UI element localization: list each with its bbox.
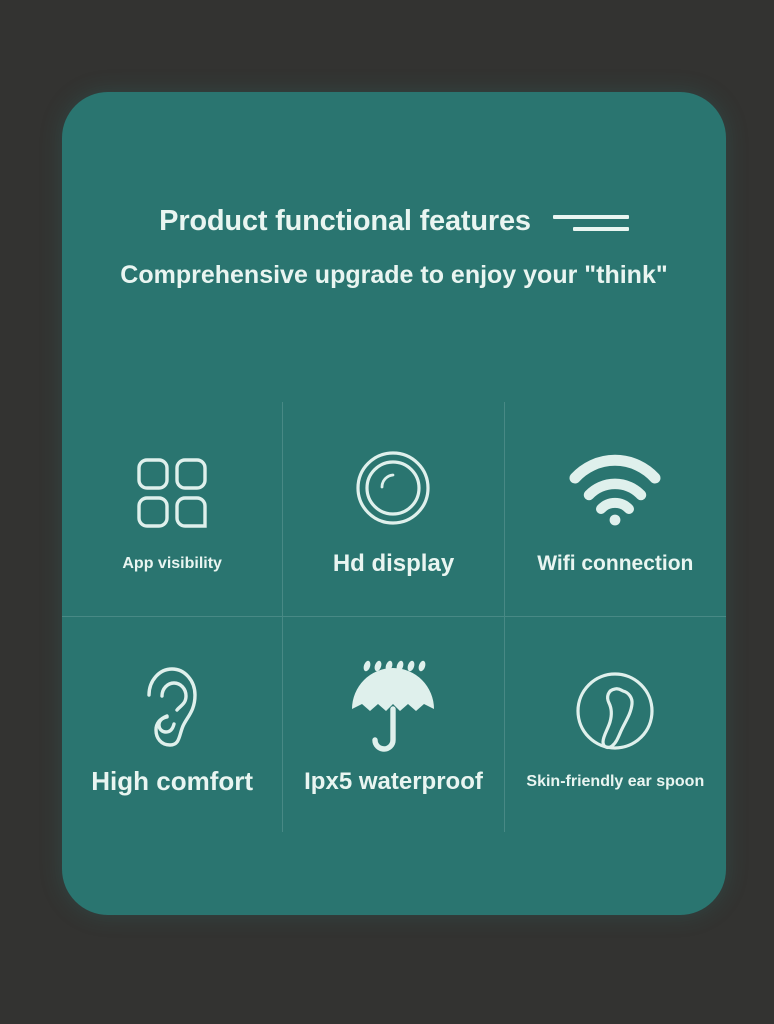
feature-label: Ipx5 waterproof [304, 768, 483, 796]
card-header: Product functional features Comprehensiv… [62, 92, 726, 291]
feature-item-ipx5-waterproof[interactable]: Ipx5 waterproof [283, 617, 504, 832]
title-row: Product functional features [62, 205, 726, 238]
feature-item-hd-display[interactable]: Hd display [283, 402, 504, 617]
feature-label: Wifi connection [537, 552, 693, 576]
page-subtitle: Comprehensive upgrade to enjoy your "thi… [62, 260, 726, 291]
feature-label: Skin-friendly ear spoon [526, 773, 704, 791]
app-grid-icon [133, 445, 211, 541]
ear-icon [136, 652, 208, 756]
wifi-icon [567, 442, 663, 538]
feature-item-wifi-connection[interactable]: Wifi connection [505, 402, 726, 617]
feature-item-high-comfort[interactable]: High comfort [62, 617, 283, 832]
ear-spoon-icon [571, 659, 659, 763]
umbrella-rain-icon [346, 654, 440, 758]
feature-label: App visibility [122, 555, 222, 573]
accent-line-short [573, 227, 629, 231]
screenshot-root: Product functional features Comprehensiv… [0, 0, 774, 1024]
feature-grid: App visibility Hd display [62, 402, 726, 832]
feature-item-ear-spoon[interactable]: Skin-friendly ear spoon [505, 617, 726, 832]
double-line-accent-icon [553, 213, 629, 231]
accent-line-long [553, 215, 629, 219]
feature-item-app-visibility[interactable]: App visibility [62, 402, 283, 617]
page-title: Product functional features [159, 205, 531, 238]
feature-label: Hd display [333, 550, 454, 578]
feature-label: High comfort [91, 766, 253, 797]
camera-lens-icon [351, 440, 435, 536]
feature-card: Product functional features Comprehensiv… [62, 92, 726, 915]
